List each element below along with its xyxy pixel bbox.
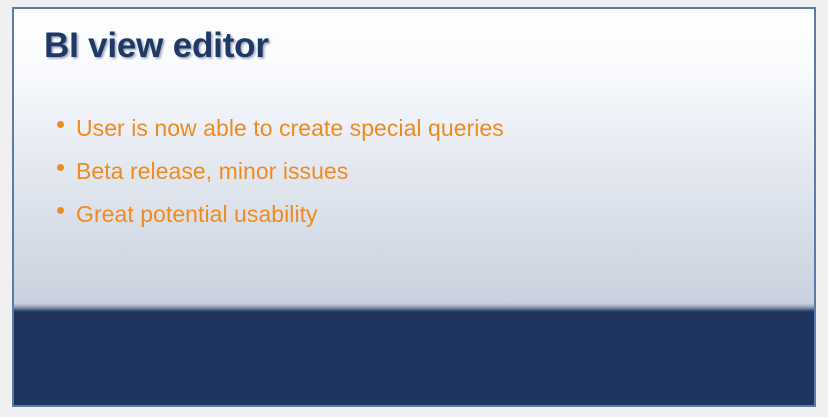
bullet-dot-icon — [44, 156, 76, 171]
bullet-dot-icon — [44, 113, 76, 128]
list-item-label: Beta release, minor issues — [76, 156, 348, 186]
bullet-list: User is now able to create special queri… — [44, 113, 744, 242]
list-item[interactable]: User is now able to create special queri… — [44, 113, 744, 156]
list-item[interactable]: Beta release, minor issues — [44, 156, 744, 199]
footer-band-fade — [14, 303, 814, 312]
footer-band — [14, 312, 814, 405]
list-item-label: User is now able to create special queri… — [76, 113, 504, 143]
list-item-label: Great potential usability — [76, 199, 318, 229]
bullet-dot-icon — [44, 199, 76, 214]
slide-page: BI view editor User is now able to creat… — [0, 0, 828, 417]
list-item[interactable]: Great potential usability — [44, 199, 744, 242]
slide-title: BI view editor — [44, 26, 269, 66]
presentation-slide[interactable]: BI view editor User is now able to creat… — [12, 7, 816, 407]
